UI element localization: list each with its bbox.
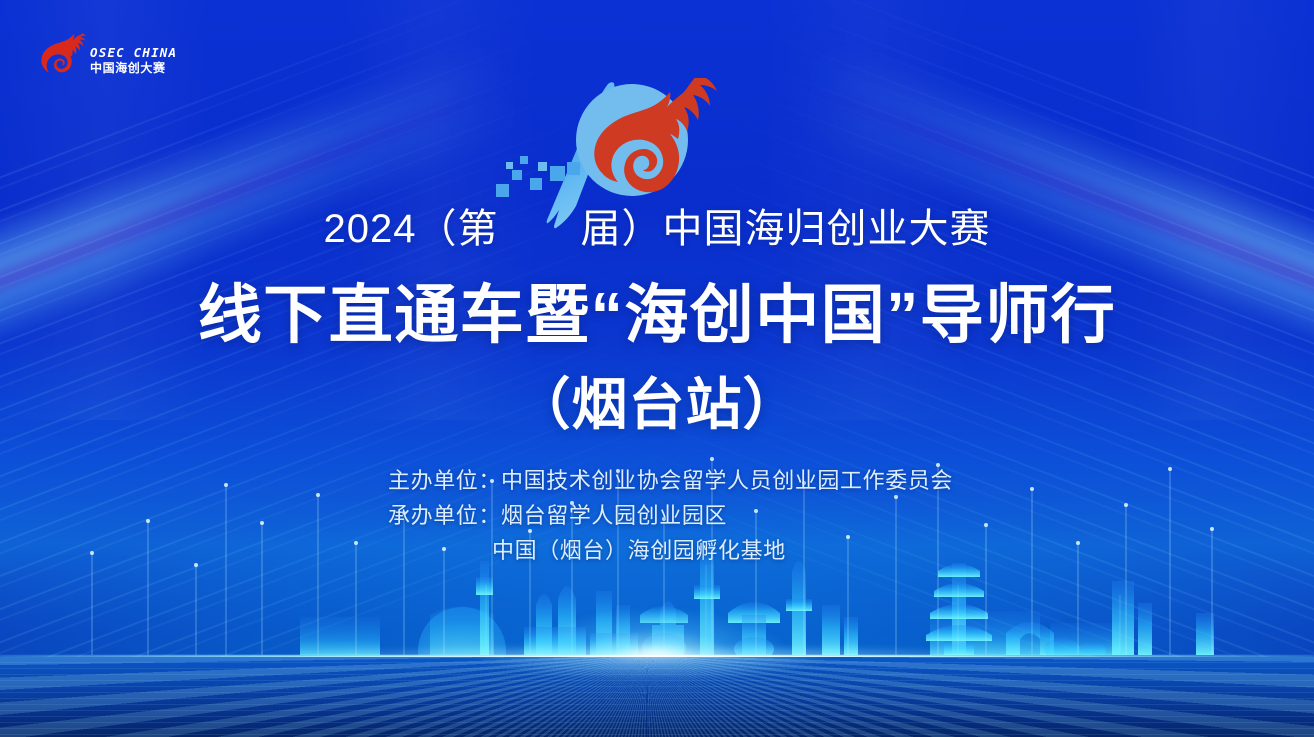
brand-en-name: OSEC CHINA	[90, 47, 177, 60]
co-organizer-value: 烟台留学人园创业园区	[501, 503, 727, 528]
ground-center-glow	[392, 657, 912, 721]
co-organizer-label: 承办单位：	[388, 503, 501, 528]
incubation-base-row: 中国（烟台）海创园孵化基地	[0, 540, 1314, 562]
host-organizer-row: 主办单位：中国技术创业协会留学人员创业园工作委员会	[0, 470, 1314, 492]
ground-perspective-rays	[0, 657, 1314, 737]
edition-prefix: 2024（第	[324, 207, 499, 251]
ground-scanlines	[0, 657, 1314, 737]
poster-canvas: OSEC CHINA 中国海创大赛	[0, 0, 1314, 737]
co-organizer-row: 承办单位：烟台留学人园创业园区	[0, 505, 1314, 527]
brand-cn-name: 中国海创大赛	[90, 62, 177, 74]
page-title: 线下直通车暨“海创中国”导师行	[0, 264, 1314, 356]
edition-line: 2024（第届）中国海归创业大赛	[0, 196, 1314, 254]
brand-logo: OSEC CHINA 中国海创大赛	[36, 27, 166, 82]
edition-suffix: 届）中国海归创业大赛	[580, 207, 990, 251]
incubation-base-value: 中国（烟台）海创园孵化基地	[492, 538, 786, 563]
page-subtitle: （烟台站）	[0, 360, 1314, 441]
perspective-ground-plane	[0, 657, 1314, 737]
horizon-lens-flare	[120, 640, 1194, 672]
host-label: 主办单位：	[388, 468, 501, 493]
host-value: 中国技术创业协会留学人员创业园工作委员会	[501, 468, 953, 493]
horizon-light-burst	[465, 588, 845, 728]
horizon-line	[0, 655, 1314, 658]
brand-wordmark: OSEC CHINA 中国海创大赛	[90, 35, 177, 74]
phoenix-flame-icon	[36, 31, 86, 79]
